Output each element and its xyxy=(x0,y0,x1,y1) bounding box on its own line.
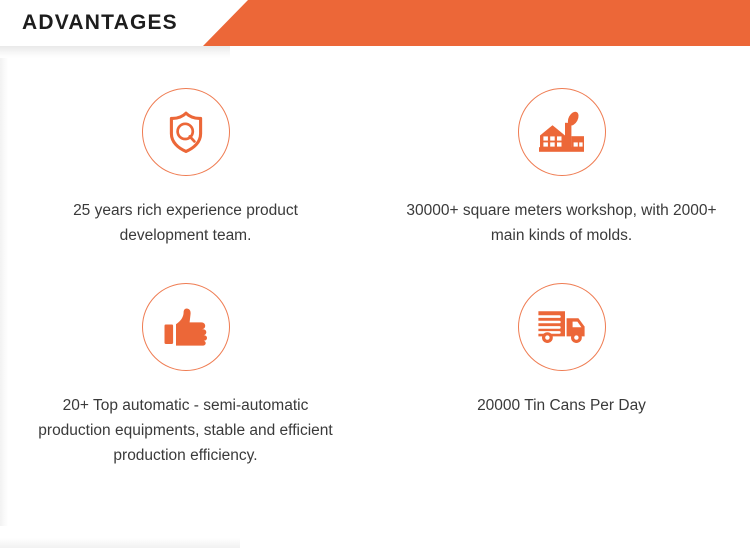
advantages-grid: 25 years rich experience product develop… xyxy=(0,46,750,478)
shield-quality-icon xyxy=(162,108,210,156)
advantage-item: 25 years rich experience product develop… xyxy=(0,88,365,283)
advantage-text: 30000+ square meters workshop, with 2000… xyxy=(406,198,718,248)
icon-circle xyxy=(142,283,230,371)
advantage-text: 25 years rich experience product develop… xyxy=(36,198,336,248)
advantage-text: 20+ Top automatic - semi-automatic produ… xyxy=(36,393,336,468)
advantage-item: 20+ Top automatic - semi-automatic produ… xyxy=(0,283,365,478)
delivery-truck-icon xyxy=(535,307,589,347)
advantage-item: 20000 Tin Cans Per Day xyxy=(365,283,750,478)
thumbs-up-icon xyxy=(162,305,210,349)
page-title: ADVANTAGES xyxy=(22,0,178,46)
icon-circle xyxy=(142,88,230,176)
advantage-text: 20000 Tin Cans Per Day xyxy=(477,393,646,418)
page-header: ADVANTAGES xyxy=(0,0,750,46)
bottom-edge-shade xyxy=(0,538,240,548)
advantage-item: 30000+ square meters workshop, with 2000… xyxy=(365,88,750,283)
icon-circle xyxy=(518,283,606,371)
factory-icon xyxy=(537,109,587,155)
icon-circle xyxy=(518,88,606,176)
